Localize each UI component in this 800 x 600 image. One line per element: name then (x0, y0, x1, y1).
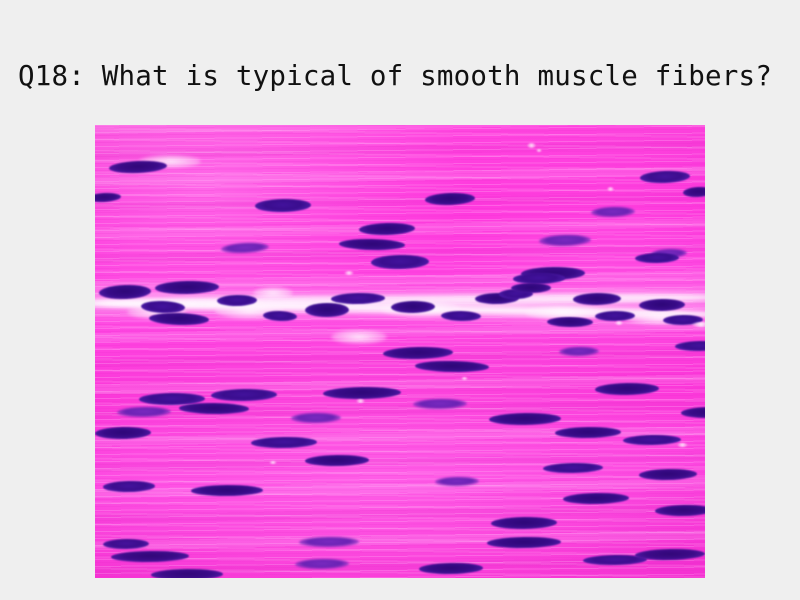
perinuclear-halo (331, 330, 387, 344)
smooth-muscle-nucleus (655, 504, 705, 516)
smooth-muscle-nucleus (547, 317, 593, 327)
tissue-speck (461, 377, 468, 380)
tissue-speck (527, 143, 536, 148)
tissue-speck (344, 271, 354, 275)
smooth-muscle-nucleus (151, 569, 223, 578)
slide-canvas: Q18: What is typical of smooth muscle fi… (0, 0, 800, 600)
tissue-speck (691, 322, 705, 327)
smooth-muscle-histology-image (95, 125, 705, 578)
tissue-speck (677, 443, 688, 447)
perinuclear-halo (253, 287, 293, 299)
tissue-speck (356, 399, 365, 403)
tissue-speck (615, 321, 623, 325)
tissue-speck (269, 461, 277, 464)
page-title: Q18: What is typical of smooth muscle fi… (18, 56, 798, 96)
tissue-speck (607, 187, 614, 191)
tissue-speck (536, 149, 542, 152)
